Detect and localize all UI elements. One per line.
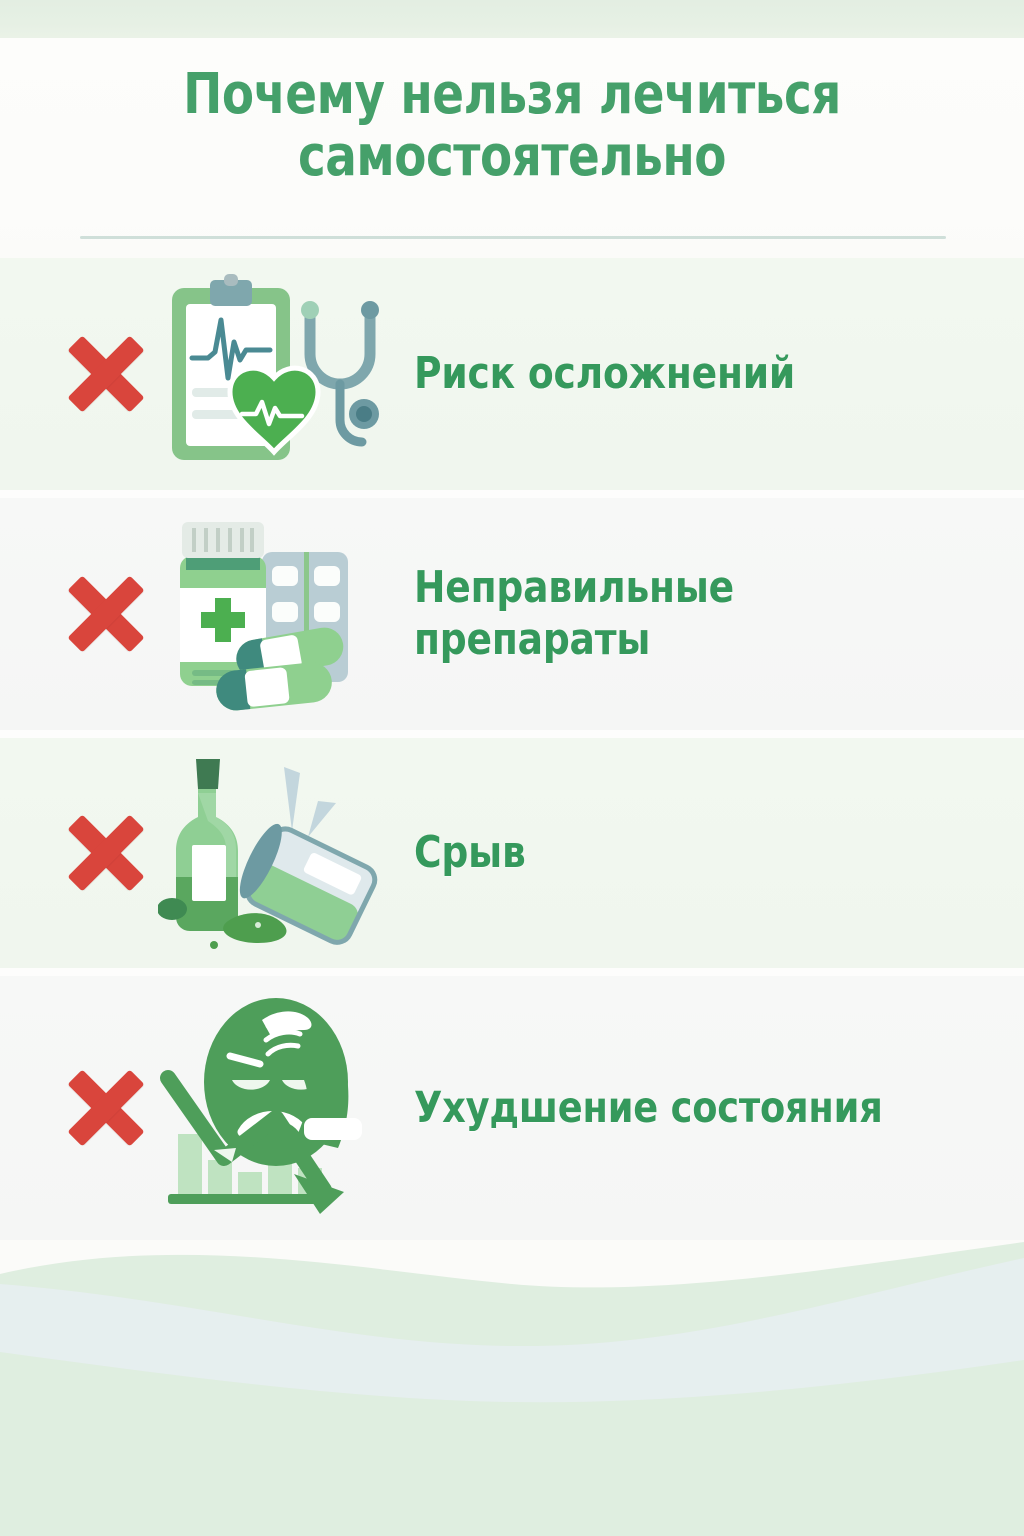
- list-item-label: Ухудшение состояния: [414, 1082, 883, 1134]
- list-item-label: Неправильные препараты: [414, 562, 734, 666]
- list-item: Риск осложнений: [0, 258, 1024, 490]
- bottle-spilled-glass-icon: [154, 738, 394, 968]
- sad-person-declining-chart-icon: [154, 976, 394, 1240]
- infographic-page: Почему нельзя лечиться самостоятельно: [0, 0, 1024, 1536]
- title-divider: [80, 236, 946, 239]
- red-cross-icon: [50, 797, 162, 909]
- list-item: Неправильные препараты: [0, 498, 1024, 730]
- page-title: Почему нельзя лечиться самостоятельно: [36, 64, 988, 188]
- header-section: Почему нельзя лечиться самостоятельно: [0, 38, 1024, 258]
- list-item-label: Риск осложнений: [414, 348, 795, 400]
- list-item: Срыв: [0, 738, 1024, 968]
- red-cross-icon: [50, 1052, 162, 1164]
- clipboard-ecg-heart-stethoscope-icon: [154, 258, 394, 490]
- pill-bottle-blister-capsules-icon: [154, 498, 394, 730]
- list-item: Ухудшение состояния: [0, 976, 1024, 1240]
- bottom-wave-decoration: [0, 1240, 1024, 1536]
- list-item-label: Срыв: [414, 827, 526, 879]
- red-cross-icon: [50, 318, 162, 430]
- top-accent-band: [0, 0, 1024, 38]
- red-cross-icon: [50, 558, 162, 670]
